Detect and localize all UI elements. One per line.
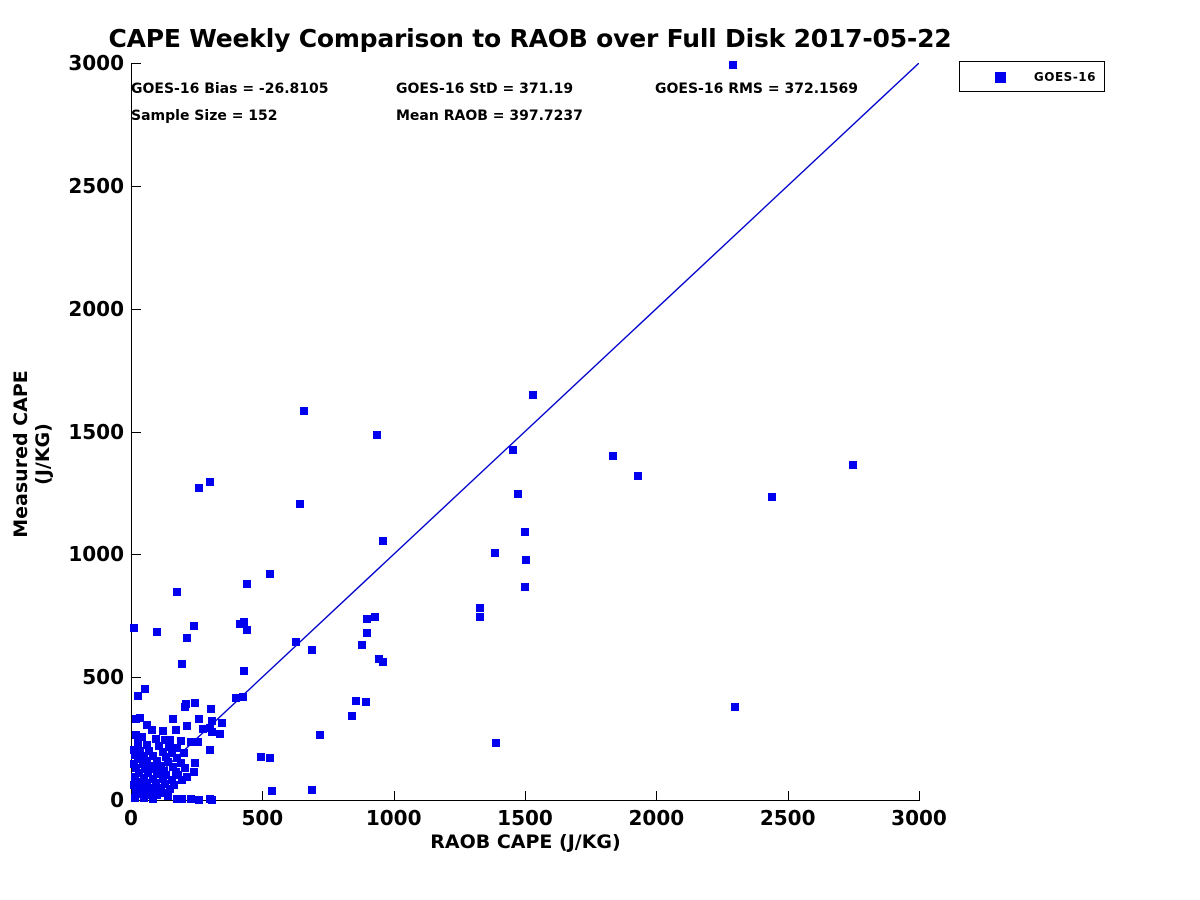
y-tick-label-1500: 1500 bbox=[68, 420, 124, 444]
plot-area bbox=[131, 63, 919, 800]
x-axis-title: RAOB CAPE (J/KG) bbox=[131, 831, 920, 853]
x-tick-3000 bbox=[919, 791, 920, 800]
x-tick-label-3000: 3000 bbox=[891, 806, 947, 830]
x-tick-label-0: 0 bbox=[124, 806, 138, 830]
page-title: CAPE Weekly Comparison to RAOB over Full… bbox=[0, 24, 1060, 53]
y-axis-title: Measured CAPE (J/KG) bbox=[10, 344, 54, 564]
legend-label-goes16: GOES-16 bbox=[960, 70, 1096, 84]
x-tick-label-2000: 2000 bbox=[628, 806, 684, 830]
chart-page: CAPE Weekly Comparison to RAOB over Full… bbox=[0, 0, 1200, 900]
y-tick-label-3000: 3000 bbox=[68, 51, 124, 75]
y-tick-0 bbox=[132, 800, 141, 801]
y-tick-label-0: 0 bbox=[110, 788, 124, 812]
reference-line-1to1 bbox=[131, 63, 919, 800]
x-tick-label-1500: 1500 bbox=[497, 806, 553, 830]
y-tick-label-2000: 2000 bbox=[68, 297, 124, 321]
x-axis-line bbox=[131, 800, 920, 801]
y-tick-label-1000: 1000 bbox=[68, 542, 124, 566]
x-tick-label-2500: 2500 bbox=[760, 806, 816, 830]
x-tick-label-500: 500 bbox=[241, 806, 283, 830]
x-tick-label-1000: 1000 bbox=[366, 806, 422, 830]
y-tick-label-2500: 2500 bbox=[68, 174, 124, 198]
y-tick-label-500: 500 bbox=[82, 665, 124, 689]
legend[interactable]: GOES-16 bbox=[959, 61, 1105, 92]
